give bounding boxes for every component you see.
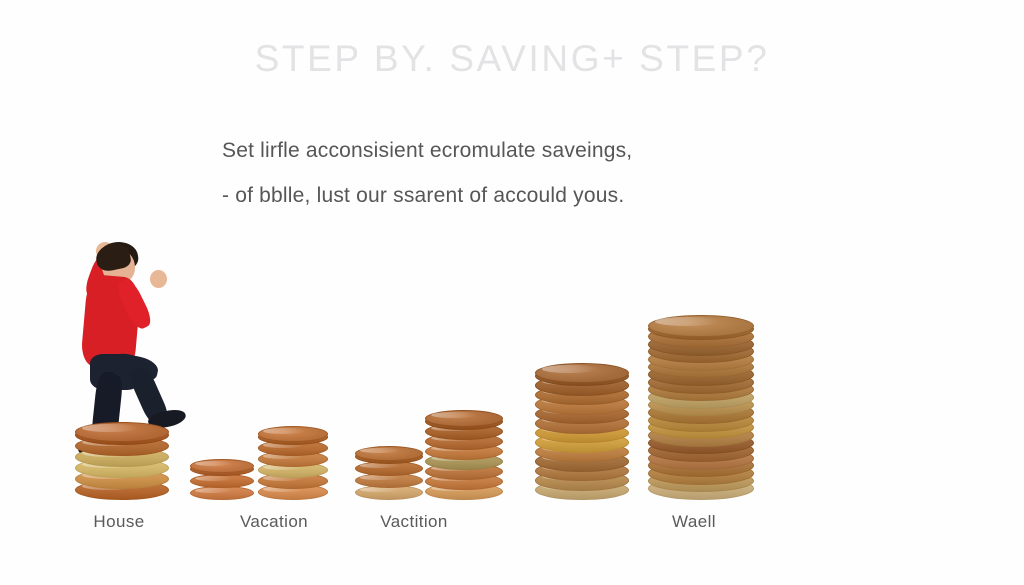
coin-top-face [75, 422, 169, 442]
coin-top-face [355, 446, 423, 461]
stack-vactition-small [355, 444, 421, 500]
coin-top-face [425, 410, 503, 427]
coin-top-face [190, 459, 254, 473]
stack-house [75, 426, 167, 500]
slide-canvas: STEP BY. SAVING+ STEP? Set lirfle accons… [0, 0, 1024, 585]
stack-waell [648, 325, 752, 500]
stack-vacation-single [190, 456, 252, 500]
coin-top-face [258, 426, 328, 442]
coin-top-face [535, 363, 629, 383]
category-label-vactition: Vactition [380, 512, 448, 532]
category-label-vacation: Vacation [240, 512, 308, 532]
category-label-waell: Waell [672, 512, 716, 532]
stack-vactition [425, 412, 501, 500]
stack-vacation [258, 426, 326, 500]
category-label-house: House [93, 512, 144, 532]
figure-front-hand [150, 270, 167, 288]
stack-fourth [535, 369, 627, 501]
